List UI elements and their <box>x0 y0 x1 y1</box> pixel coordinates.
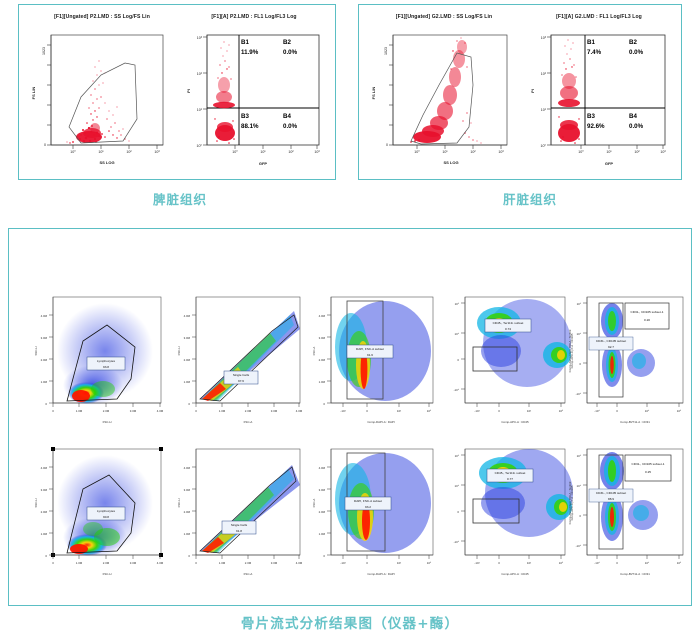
xaxis-label: FSC-A <box>244 420 253 424</box>
svg-text:0: 0 <box>195 409 197 413</box>
gate-label-name: DAPI, FSC-A subset <box>356 347 384 351</box>
quadrant-b3-value: 88.1% <box>241 123 259 130</box>
xaxis-label: FSC-A <box>244 572 253 576</box>
gate-label-value: 0.77 <box>507 477 513 481</box>
quadrant-b2-value: 0.0% <box>283 49 298 56</box>
svg-text:0: 0 <box>498 561 500 565</box>
figure-root: [F1][Ungated] P2.LMD : SS Log/FS Lin [F1… <box>0 0 700 642</box>
svg-text:3.0M: 3.0M <box>130 561 137 565</box>
xtick-e0: 10⁰ <box>578 150 584 154</box>
svg-text:2.0M: 2.0M <box>41 358 48 362</box>
gate-label-name: Single Cells <box>233 373 250 377</box>
svg-text:-10⁴: -10⁴ <box>594 409 600 413</box>
yaxis-label: PI <box>186 89 191 93</box>
plot-title-spleen-fl1fl3: [F1][A] P2.LMD : FL1 Log/FL3 Log <box>179 14 329 20</box>
gate-label-value: 91.6 <box>367 353 373 357</box>
gate-label-value: 97.6 <box>238 379 244 383</box>
svg-text:1.0M: 1.0M <box>219 561 226 565</box>
gate-label-box: CD45-, Ter119- subset 0.74 <box>485 319 531 332</box>
yaxis-label: PI <box>530 89 535 93</box>
svg-text:3.0M: 3.0M <box>184 488 191 492</box>
quadrant-b1-name: B1 <box>241 39 249 46</box>
svg-text:2.0M: 2.0M <box>319 358 326 362</box>
yaxis-label: FS LIN <box>31 87 36 100</box>
xaxis-label: Comp-BV711-A : CD31 <box>620 572 650 576</box>
ytick-e2: 10² <box>541 72 547 76</box>
svg-text:10⁴: 10⁴ <box>645 561 650 565</box>
quadrant-b4-name: B4 <box>629 113 637 120</box>
svg-text:10⁵: 10⁵ <box>427 561 432 565</box>
svg-text:1.0M: 1.0M <box>76 561 83 565</box>
gate-label-box: DAPI, FSC-A subset 93.2 <box>345 497 391 510</box>
svg-text:0: 0 <box>52 561 54 565</box>
svg-text:10³: 10³ <box>397 409 401 413</box>
xaxis-label: Comp-DAPI-A : DAPI <box>367 420 395 424</box>
svg-text:3.0M: 3.0M <box>41 336 48 340</box>
yaxis-label: FS LIN <box>371 87 376 100</box>
gate-label-name: DAPI, FSC-A subset <box>354 499 382 503</box>
plot-r1c1-lymphocytes: Lymphocytes 93.8 0 1.0M 2.0M 3.0M <box>31 289 171 429</box>
svg-text:10³: 10³ <box>527 561 531 565</box>
quadrant-b4-value: 0.0% <box>283 123 298 130</box>
svg-text:10⁵: 10⁵ <box>577 302 582 306</box>
svg-text:1.0M: 1.0M <box>319 380 326 384</box>
quadrant-b4-value: 0.0% <box>629 123 644 130</box>
svg-text:10⁴: 10⁴ <box>577 484 582 488</box>
gate-label-value: 91.8 <box>236 529 242 533</box>
gate-label-value: 0.74 <box>505 327 511 331</box>
gate-label-1-name: CD31-, CD105 subset-1 <box>631 462 664 466</box>
svg-text:0: 0 <box>579 362 581 366</box>
quadrant-b3-name: B3 <box>587 113 595 120</box>
gate-label-box: Single Cells 91.8 <box>222 521 256 534</box>
svg-text:10⁴: 10⁴ <box>577 332 582 336</box>
svg-text:2.0M: 2.0M <box>103 561 110 565</box>
panel-spleen: [F1][Ungated] P2.LMD : SS Log/FS Lin [F1… <box>18 4 336 180</box>
gate-label-box: Single Cells 97.6 <box>224 371 258 384</box>
svg-text:10⁴: 10⁴ <box>455 332 460 336</box>
svg-text:4.0M: 4.0M <box>41 314 48 318</box>
gate-label-box: Lymphocytes 93.8 <box>87 357 125 370</box>
xtick-e3: 10³ <box>660 150 666 154</box>
svg-text:0: 0 <box>45 402 47 406</box>
svg-text:4.0M: 4.0M <box>319 314 326 318</box>
quadrant-b2-name: B2 <box>629 39 637 46</box>
plot-r2c4-cd45-ter119: CD45-, Ter119- subset 0.77 10⁵ 10⁴ 0 -10… <box>437 441 577 581</box>
xaxis-label: FSC-H <box>103 420 112 424</box>
ytick-e0: 10⁰ <box>197 144 203 148</box>
gate-label-value: 93.2 <box>365 505 371 509</box>
svg-text:10⁵: 10⁵ <box>559 409 564 413</box>
plot-spleen-ss-fs: 1023 0 10⁰ 10¹ 10² 10³ SS LOG FS LIN <box>25 23 177 173</box>
svg-text:1.0M: 1.0M <box>184 532 191 536</box>
gate-label-1-value: 0.25 <box>645 470 651 474</box>
gate-label-box: Lymphocytes 90.8 <box>87 507 125 520</box>
xtick-e2: 10² <box>634 150 640 154</box>
ytick-e3: 10³ <box>197 36 203 40</box>
svg-text:2.0M: 2.0M <box>245 561 252 565</box>
axes: 1023 0 10⁰ 10¹ 10² 10³ SS LOG FS LIN <box>371 35 507 165</box>
plot-title-spleen-ungated: [F1][Ungated] P2.LMD : SS Log/FS Lin <box>27 14 177 20</box>
svg-text:0: 0 <box>616 409 618 413</box>
gate-label-2: CD31-, CD105 subset 92.7 <box>589 337 633 350</box>
svg-text:4.0M: 4.0M <box>184 466 191 470</box>
gate-label-value: 93.8 <box>103 365 109 369</box>
svg-text:-10⁴: -10⁴ <box>454 388 460 392</box>
svg-text:2.0M: 2.0M <box>184 358 191 362</box>
xtick-e2: 10² <box>288 150 294 154</box>
svg-text:0: 0 <box>498 409 500 413</box>
svg-text:2.0M: 2.0M <box>103 409 110 413</box>
gate-label-2-name: CD31-, CD105 subset <box>596 491 626 495</box>
yaxis-label: Comp-APC-Cy7-A : CD105 <box>570 485 574 520</box>
bone-chip-plot-grid: Lymphocytes 93.8 0 1.0M 2.0M 3.0M <box>9 229 691 605</box>
yaxis-label: SSC-H <box>34 499 38 508</box>
xaxis-label: SS LOG <box>443 160 458 165</box>
svg-text:0: 0 <box>323 554 325 558</box>
plot-r2c1-lymphocytes: Lymphocytes 90.8 0 1.0M 2.0M 3.0M <box>31 441 171 581</box>
svg-text:4.0M: 4.0M <box>41 466 48 470</box>
quadrant-b3-value: 92.6% <box>587 123 605 130</box>
svg-text:0: 0 <box>45 554 47 558</box>
svg-text:2.0M: 2.0M <box>184 510 191 514</box>
svg-text:-10³: -10³ <box>340 409 345 413</box>
svg-text:1.0M: 1.0M <box>184 380 191 384</box>
xaxis-label: Comp-APC-A : CD45 <box>501 572 529 576</box>
svg-text:10⁵: 10⁵ <box>677 409 682 413</box>
svg-text:3.0M: 3.0M <box>319 488 326 492</box>
xtick-e1: 10¹ <box>260 150 266 154</box>
svg-text:4.0M: 4.0M <box>184 314 191 318</box>
svg-text:1.0M: 1.0M <box>76 409 83 413</box>
svg-text:-10⁴: -10⁴ <box>576 544 582 548</box>
svg-text:10³: 10³ <box>527 409 531 413</box>
top-panel-row: [F1][Ungated] P2.LMD : SS Log/FS Lin [F1… <box>0 4 700 184</box>
xtick-e0: 10⁰ <box>70 150 76 154</box>
svg-text:3.0M: 3.0M <box>271 561 278 565</box>
svg-text:-10⁴: -10⁴ <box>576 392 582 396</box>
gate-label-2-name: CD31-, CD105 subset <box>596 339 626 343</box>
svg-text:10⁵: 10⁵ <box>677 561 682 565</box>
quadrant-b2-name: B2 <box>283 39 291 46</box>
yaxis-label: FSC-H <box>177 499 181 508</box>
svg-text:-10⁴: -10⁴ <box>454 540 460 544</box>
ytick-1023: 1023 <box>42 47 46 55</box>
svg-text:10⁴: 10⁴ <box>455 484 460 488</box>
plot-r1c3-dapi: DAPI, FSC-A subset 91.6 0 1.0M 2.0M 3.0M <box>307 289 442 429</box>
caption-liver: 肝脏组织 <box>450 189 610 208</box>
svg-text:0: 0 <box>52 409 54 413</box>
axes: 1023 0 10⁰ 10¹ 10² 10³ SS LOG FS LIN <box>31 35 163 165</box>
xaxis-label: Comp-DAPI-A : DAPI <box>367 572 395 576</box>
xtick-e1: 10¹ <box>442 150 448 154</box>
ytick-e1: 10¹ <box>541 108 547 112</box>
xaxis-label: Comp-BV711-A : CD31 <box>620 420 650 424</box>
plot-liver-gfp-pi: 10³ 10² 10¹ 10⁰ 10⁰ 10¹ 10² 10³ GFP PI <box>521 23 679 173</box>
svg-text:0: 0 <box>579 514 581 518</box>
xtick-e2: 10² <box>126 150 132 154</box>
quadrant-b1-value: 7.4% <box>587 49 602 56</box>
svg-text:1.0M: 1.0M <box>41 380 48 384</box>
plot-title-liver-fl1fl3: [F1][A] G2.LMD : FL1 Log/FL3 Log <box>523 14 675 20</box>
plot-title-liver-ungated: [F1][Ungated] G2.LMD : SS Log/FS Lin <box>367 14 521 20</box>
svg-text:0: 0 <box>366 561 368 565</box>
xaxis-label: Comp-APC-A : CD45 <box>501 420 529 424</box>
gate-label-box: CD45-, Ter119- subset 0.77 <box>487 469 533 482</box>
svg-text:-10³: -10³ <box>340 561 345 565</box>
xaxis-label: SS LOG <box>99 160 114 165</box>
gate-label-name: Single Cells <box>231 523 248 527</box>
svg-text:0: 0 <box>188 554 190 558</box>
svg-text:-10⁴: -10⁴ <box>594 561 600 565</box>
svg-text:0: 0 <box>195 561 197 565</box>
gate-label-1-value: 0.20 <box>644 318 650 322</box>
yaxis-label: FSC-H <box>177 347 181 356</box>
quadrant-b3-name: B3 <box>241 113 249 120</box>
plot-liver-ss-fs: 1023 0 10⁰ 10¹ 10² 10³ SS LOG FS LIN <box>365 23 521 173</box>
xtick-e3: 10³ <box>498 150 504 154</box>
panel-bone-chip: Lymphocytes 93.8 0 1.0M 2.0M 3.0M <box>8 228 692 606</box>
ytick-e1: 10¹ <box>197 108 203 112</box>
ytick-e0: 10⁰ <box>541 144 547 148</box>
svg-text:0: 0 <box>616 561 618 565</box>
quadrant-b1-value: 11.9% <box>241 49 259 56</box>
svg-text:10⁵: 10⁵ <box>559 561 564 565</box>
gate-label-name: Lymphocytes <box>97 359 116 363</box>
quadrant-b2-value: 0.0% <box>629 49 644 56</box>
xtick-e1: 10¹ <box>98 150 104 154</box>
ytick-e3: 10³ <box>541 36 547 40</box>
xtick-e2: 10² <box>470 150 476 154</box>
plot-r2c5-cd31-cd105: CD31-, CD105 subset-1 0.25 CD31-, CD105 … <box>567 441 693 581</box>
plot-spleen-gfp-pi: 10³ 10² 10¹ 10⁰ 10⁰ 10¹ 10² 10³ GFP PI <box>177 23 333 173</box>
quadrant-b1-name: B1 <box>587 39 595 46</box>
xtick-e1: 10¹ <box>606 150 612 154</box>
svg-text:0: 0 <box>323 402 325 406</box>
ytick-0: 0 <box>44 143 46 147</box>
plot-r1c5-cd31-cd105: CD31-, CD105 subset-1 0.20 CD31-, CD105 … <box>567 289 693 429</box>
svg-text:2.0M: 2.0M <box>245 409 252 413</box>
ytick-e2: 10² <box>197 72 203 76</box>
plot-r1c4-cd45-ter119: CD45-, Ter119- subset 0.74 10⁵ 10⁴ 0 -10… <box>437 289 577 429</box>
svg-text:10⁴: 10⁴ <box>645 409 650 413</box>
svg-text:10⁵: 10⁵ <box>455 454 460 458</box>
svg-text:2.0M: 2.0M <box>41 510 48 514</box>
svg-text:3.0M: 3.0M <box>184 336 191 340</box>
svg-text:0: 0 <box>457 510 459 514</box>
xaxis-label: FSC-H <box>103 572 112 576</box>
svg-text:10⁵: 10⁵ <box>427 409 432 413</box>
svg-text:0: 0 <box>188 402 190 406</box>
svg-text:3.0M: 3.0M <box>41 488 48 492</box>
svg-text:1.0M: 1.0M <box>219 409 226 413</box>
svg-text:4.0M: 4.0M <box>319 466 326 470</box>
svg-text:4.0M: 4.0M <box>296 561 303 565</box>
xtick-e3: 10³ <box>314 150 320 154</box>
svg-text:4.0M: 4.0M <box>296 409 303 413</box>
svg-text:10⁵: 10⁵ <box>577 454 582 458</box>
svg-text:4.0M: 4.0M <box>157 409 164 413</box>
panel-liver: [F1][Ungated] G2.LMD : SS Log/FS Lin [F1… <box>358 4 682 180</box>
xaxis-label: GFP <box>259 161 268 166</box>
gate-label-2-value: 92.7 <box>608 345 614 349</box>
plot-r1c2-single-cells: Single Cells 97.6 0 1.0M 2.0M 3.0M <box>174 289 309 429</box>
ytick-1023: 1023 <box>384 47 388 55</box>
svg-text:4.0M: 4.0M <box>157 561 164 565</box>
svg-text:0: 0 <box>457 358 459 362</box>
gate-label-1-name: CD31-, CD105 subset-1 <box>630 310 663 314</box>
plot-r2c3-dapi: DAPI, FSC-A subset 93.2 0 1.0M 2.0M 3.0M <box>307 441 442 581</box>
xtick-e0: 10⁰ <box>232 150 238 154</box>
caption-bone-chip: 骨片流式分析结果图（仪器+酶） <box>0 612 700 632</box>
xtick-e3: 10³ <box>154 150 160 154</box>
yaxis-label: Comp-APC-Cy7-A : CD105 <box>570 333 574 368</box>
yaxis-label: FSC-A <box>312 499 316 508</box>
svg-text:-10³: -10³ <box>474 409 479 413</box>
plot-r2c2-single-cells: Single Cells 91.8 0 1.0M 2.0M 3.0M <box>174 441 309 581</box>
ytick-0: 0 <box>386 143 388 147</box>
yaxis-label: SSC-H <box>34 347 38 356</box>
svg-text:1.0M: 1.0M <box>41 532 48 536</box>
svg-text:0: 0 <box>366 409 368 413</box>
svg-text:10³: 10³ <box>397 561 401 565</box>
gate-label-name: CD45-, Ter119- subset <box>495 471 526 475</box>
gate-label-name: CD45-, Ter119- subset <box>493 321 524 325</box>
gate-label-2-value: 88.9 <box>608 497 614 501</box>
quadrant-b4-name: B4 <box>283 113 291 120</box>
svg-text:2.0M: 2.0M <box>319 510 326 514</box>
svg-text:3.0M: 3.0M <box>319 336 326 340</box>
gate-label-box: DAPI, FSC-A subset 91.6 <box>347 345 393 358</box>
gate-label-name: Lymphocytes <box>97 509 116 513</box>
gate-label-value: 90.8 <box>103 515 109 519</box>
svg-text:1.0M: 1.0M <box>319 532 326 536</box>
svg-text:3.0M: 3.0M <box>130 409 137 413</box>
gate-label-2: CD31-, CD105 subset 88.9 <box>589 489 633 502</box>
caption-spleen: 脾脏组织 <box>100 189 260 208</box>
xaxis-label: GFP <box>605 161 614 166</box>
svg-text:3.0M: 3.0M <box>271 409 278 413</box>
svg-text:-10³: -10³ <box>474 561 479 565</box>
xtick-e0: 10⁰ <box>414 150 420 154</box>
svg-text:10⁵: 10⁵ <box>455 302 460 306</box>
yaxis-label: FSC-A <box>312 347 316 356</box>
